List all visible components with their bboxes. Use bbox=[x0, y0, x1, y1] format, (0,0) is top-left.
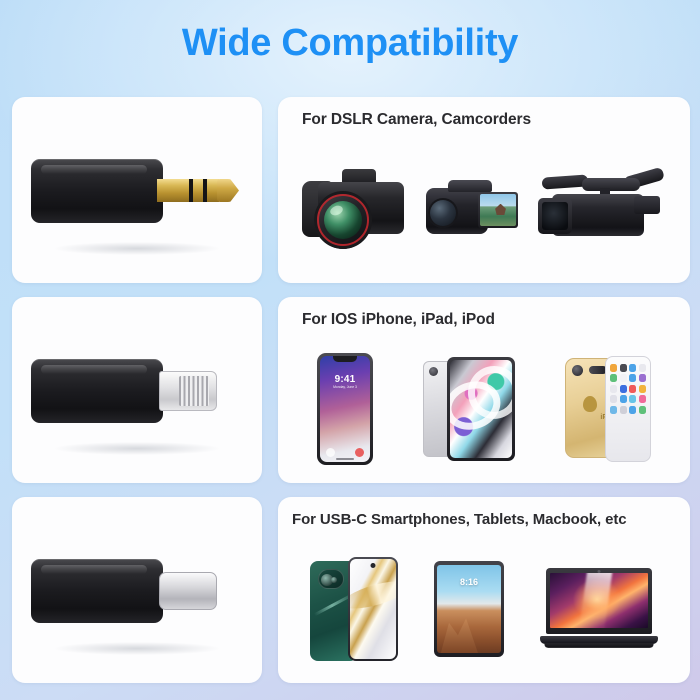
tablet-lockscreen-time: 8:16 bbox=[437, 577, 501, 587]
app-icon bbox=[639, 406, 646, 414]
smartphone-screen-wallpaper bbox=[350, 559, 396, 659]
app-icon bbox=[620, 395, 627, 403]
professional-camcorder-image bbox=[538, 170, 666, 248]
product-shadow bbox=[55, 442, 219, 455]
product-shadow bbox=[55, 642, 219, 655]
ipad-image bbox=[423, 357, 515, 461]
app-icon bbox=[639, 395, 646, 403]
camcorder-screen bbox=[480, 194, 516, 226]
lightning-contact-pins bbox=[179, 376, 209, 406]
smartphone-front-shell bbox=[348, 557, 398, 661]
card-heading-usbc: For USB-C Smartphones, Tablets, Macbook,… bbox=[292, 511, 627, 528]
adapter-body bbox=[31, 559, 163, 623]
app-icon bbox=[629, 385, 636, 393]
tablet-screen-wallpaper: 8:16 bbox=[437, 565, 501, 653]
app-icon bbox=[610, 385, 617, 393]
adapter-lightning-image bbox=[31, 353, 243, 427]
apple-logo-icon bbox=[583, 396, 597, 412]
app-icon bbox=[629, 364, 636, 372]
app-icon bbox=[629, 395, 636, 403]
app-icon bbox=[639, 385, 646, 393]
ipad-rear-camera-icon bbox=[429, 367, 438, 376]
adapter-35mm-image bbox=[31, 153, 243, 227]
camcorder-lens-glass bbox=[542, 202, 568, 230]
app-icon bbox=[620, 385, 627, 393]
laptop-screen-wallpaper bbox=[550, 573, 648, 628]
camcorder-top bbox=[448, 180, 492, 192]
adapter-body bbox=[31, 359, 163, 423]
trs-plug-shaft bbox=[157, 179, 219, 202]
camcorder-screen-frame bbox=[478, 192, 518, 228]
usbc-connector bbox=[159, 572, 217, 610]
ipod-image: iPod bbox=[565, 356, 651, 462]
app-icon bbox=[610, 395, 617, 403]
app-icon bbox=[629, 374, 636, 382]
laptop-foot bbox=[543, 643, 654, 648]
tablet-shell: 8:16 bbox=[434, 561, 504, 657]
trs-plug-tip bbox=[217, 179, 239, 202]
app-icon bbox=[639, 374, 646, 382]
adapter-card-lightning bbox=[12, 297, 262, 483]
android-smartphone-image bbox=[310, 557, 398, 661]
device-card-dslr: For DSLR Camera, Camcorders bbox=[278, 97, 690, 283]
app-icon bbox=[639, 364, 646, 372]
camcorder-lens bbox=[428, 198, 458, 228]
device-list-ios: 9:41 Monday, June 3 bbox=[278, 339, 690, 479]
iphone-flashlight-icon bbox=[326, 448, 335, 457]
device-card-usbc: For USB-C Smartphones, Tablets, Macbook,… bbox=[278, 497, 690, 683]
iphone-home-indicator bbox=[336, 458, 354, 460]
camcorder-handle bbox=[582, 178, 640, 191]
app-icon bbox=[610, 374, 617, 382]
iphone-notch bbox=[333, 356, 357, 362]
ipod-rear-camera-icon bbox=[572, 365, 583, 376]
iphone-shell: 9:41 Monday, June 3 bbox=[317, 353, 373, 465]
iphone-image: 9:41 Monday, June 3 bbox=[317, 353, 373, 465]
adapter-card-35mm bbox=[12, 97, 262, 283]
app-icon bbox=[610, 364, 617, 372]
trs-plug-ring bbox=[203, 179, 207, 202]
android-tablet-image: 8:16 bbox=[434, 561, 504, 657]
app-icon bbox=[620, 374, 627, 382]
trs-plug-ring bbox=[189, 179, 193, 202]
compatibility-row-usbc: For USB-C Smartphones, Tablets, Macbook,… bbox=[12, 497, 690, 683]
iphone-screen: 9:41 Monday, June 3 bbox=[320, 356, 370, 462]
app-icon bbox=[610, 406, 617, 414]
device-list-usbc: 8:16 bbox=[278, 539, 690, 679]
dslr-lens-glass bbox=[324, 201, 362, 239]
smartphone-camera-icon bbox=[318, 569, 344, 589]
ipod-home-screen-icons bbox=[610, 364, 646, 454]
ipad-front-shell bbox=[447, 357, 515, 461]
handheld-camcorder-image bbox=[426, 178, 518, 240]
infographic-page: Wide Compatibility For DSLR Camera, Camc… bbox=[0, 0, 700, 700]
card-heading-ios: For IOS iPhone, iPad, iPod bbox=[302, 311, 495, 329]
product-shadow bbox=[55, 242, 219, 255]
device-list-dslr bbox=[278, 139, 690, 279]
adapter-body bbox=[31, 159, 163, 223]
app-icon bbox=[620, 406, 627, 414]
adapter-card-usbc bbox=[12, 497, 262, 683]
adapter-usbc-image bbox=[31, 553, 243, 627]
ipad-screen-wallpaper bbox=[450, 360, 512, 458]
app-icon bbox=[620, 364, 627, 372]
camcorder-viewfinder bbox=[634, 196, 660, 214]
ipod-front-shell bbox=[605, 356, 651, 462]
smartphone-front-camera-icon bbox=[371, 563, 376, 568]
laptop-lid bbox=[546, 568, 652, 634]
laptop-image bbox=[540, 568, 658, 650]
page-title: Wide Compatibility bbox=[0, 22, 700, 65]
device-card-ios: For IOS iPhone, iPad, iPod 9:41 Monday, … bbox=[278, 297, 690, 483]
card-heading-dslr: For DSLR Camera, Camcorders bbox=[302, 111, 531, 129]
iphone-camera-icon bbox=[355, 448, 364, 457]
compatibility-row-ios: For IOS iPhone, iPad, iPod 9:41 Monday, … bbox=[12, 297, 690, 483]
compatibility-row-dslr: For DSLR Camera, Camcorders bbox=[12, 97, 690, 283]
dslr-camera-image bbox=[302, 169, 406, 249]
iphone-lockscreen-date: Monday, June 3 bbox=[320, 385, 370, 389]
iphone-lockscreen-time: 9:41 bbox=[320, 374, 370, 385]
app-icon bbox=[629, 406, 636, 414]
